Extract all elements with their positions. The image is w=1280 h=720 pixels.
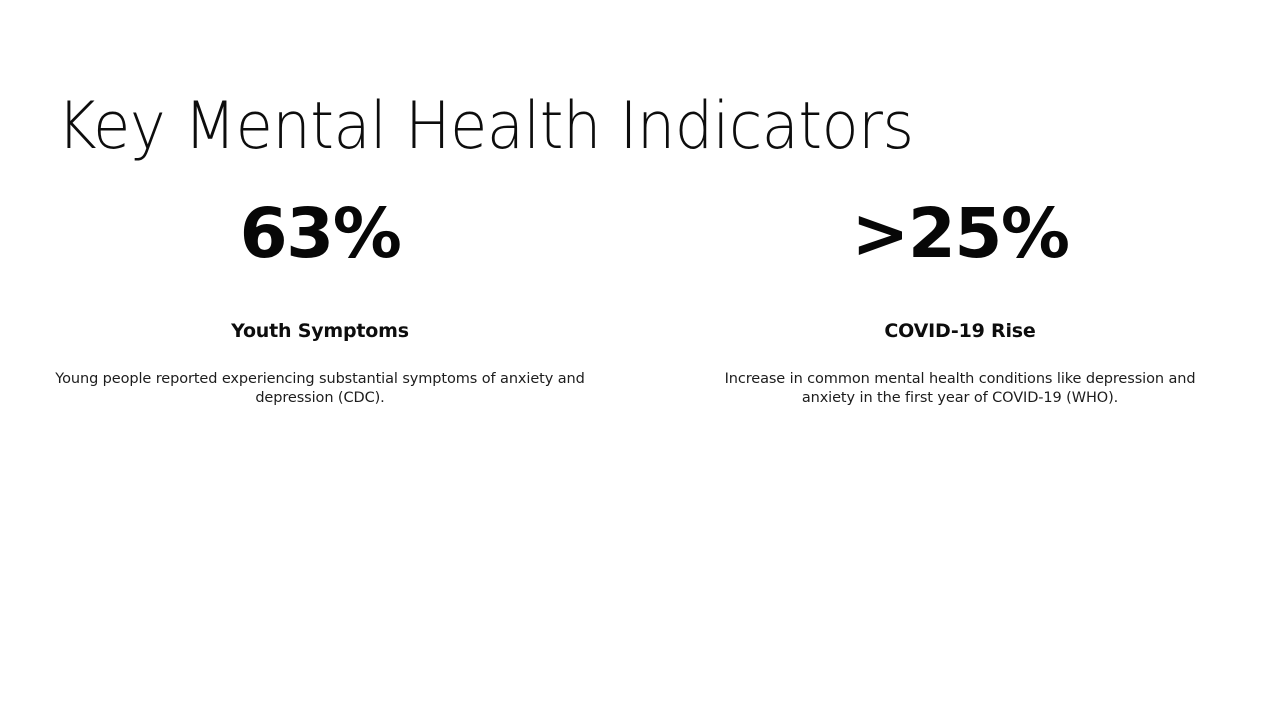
slide-canvas: Key Mental Health Indicators 63% Youth S…	[0, 0, 1280, 720]
stat-description: Young people reported experiencing subst…	[54, 343, 586, 409]
statistics-row: 63% Youth Symptoms Young people reported…	[0, 196, 1280, 409]
stat-value: 63%	[240, 196, 401, 272]
page-title: Key Mental Health Indicators	[57, 94, 914, 159]
stat-description: Increase in common mental health conditi…	[712, 343, 1208, 409]
stat-label: Youth Symptoms	[231, 272, 409, 343]
stat-card-youth-symptoms: 63% Youth Symptoms Young people reported…	[0, 196, 640, 409]
stat-label: COVID-19 Rise	[884, 272, 1035, 343]
stat-card-covid-19-rise: >25% COVID-19 Rise Increase in common me…	[640, 196, 1280, 409]
stat-value: >25%	[852, 196, 1069, 272]
